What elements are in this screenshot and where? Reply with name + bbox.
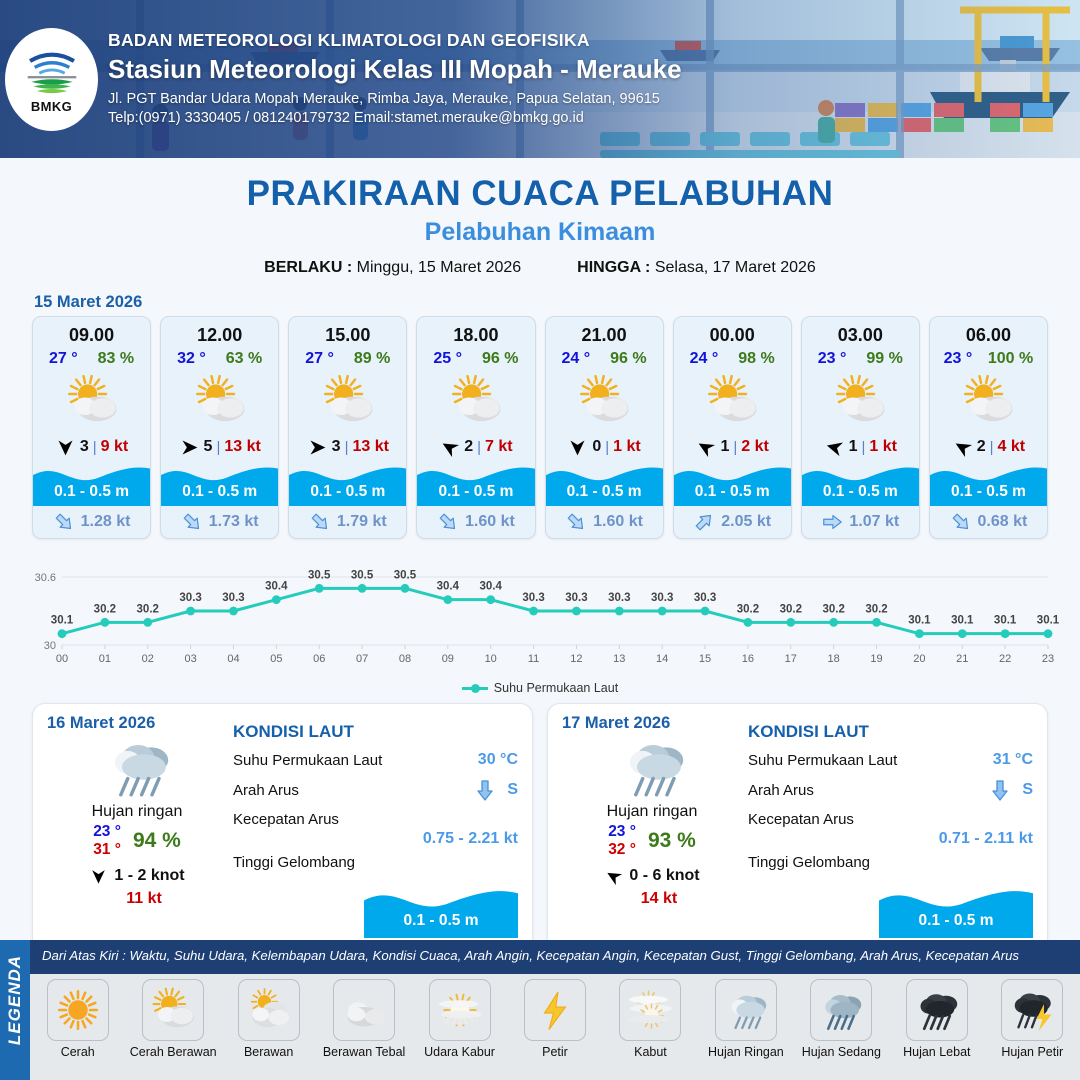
bmkg-logo-icon xyxy=(23,46,81,98)
card-time: 15.00 xyxy=(289,317,406,346)
card-weather-icon xyxy=(930,370,1047,432)
legend-item-label: Hujan Lebat xyxy=(903,1045,970,1059)
panel-condition: Hujan ringan xyxy=(562,803,742,821)
panel-sst-value: 31 °C xyxy=(993,751,1033,769)
card-wind-row: 2 | 4 kt xyxy=(930,432,1047,462)
svg-text:30.5: 30.5 xyxy=(351,569,374,581)
panel-sst-value: 30 °C xyxy=(478,751,518,769)
svg-text:30.4: 30.4 xyxy=(480,581,503,593)
card-temp-humidity: 23 ° 99 % xyxy=(802,346,919,368)
cerah-berawan-icon xyxy=(704,373,760,429)
legend-item: Udara Kabur xyxy=(412,974,507,1080)
card-separator: | xyxy=(862,439,866,456)
agency-name: BADAN METEOROLOGI KLIMATOLOGI DAN GEOFIS… xyxy=(108,30,682,51)
svg-text:03: 03 xyxy=(184,653,196,665)
bmkg-logo: BMKG xyxy=(5,28,98,131)
card-temp-humidity: 24 ° 96 % xyxy=(546,346,663,368)
forecast-card: 12.00 32 ° 63 % 5 | 13 kt 0.1 - 0.5 m xyxy=(160,316,279,539)
panel-temps: 23 ° 31 ° 94 % xyxy=(47,823,227,859)
card-wave: 0.1 - 0.5 m xyxy=(417,460,534,506)
card-current-speed: 1.07 kt xyxy=(849,513,899,531)
panel-current-dir-group: S xyxy=(988,778,1033,802)
card-wind-speed: 2 xyxy=(977,438,986,456)
card-wind-row: 3 | 13 kt xyxy=(289,432,406,462)
svg-text:05: 05 xyxy=(270,653,282,665)
card-current-row: 2.05 kt xyxy=(674,506,791,538)
forecast-card: 15.00 27 ° 89 % 3 | 13 kt 0.1 - 0.5 m xyxy=(288,316,407,539)
card-wave-height: 0.1 - 0.5 m xyxy=(674,483,791,501)
legenda-title: LEGENDA xyxy=(5,944,25,1056)
card-temperature: 24 ° xyxy=(562,350,591,368)
card-gust: 9 kt xyxy=(101,438,129,456)
panel-current-speed-label: Kecepatan Arus xyxy=(748,811,1033,828)
panel-wave-box: 0.1 - 0.5 m xyxy=(879,882,1033,938)
card-separator: | xyxy=(345,439,349,456)
card-weather-icon xyxy=(674,370,791,432)
card-humidity: 83 % xyxy=(98,350,134,368)
card-weather-icon xyxy=(289,370,406,432)
card-gust: 7 kt xyxy=(485,438,513,456)
card-wind-row: 0 | 1 kt xyxy=(546,432,663,462)
cerah-berawan-icon xyxy=(448,373,504,429)
legend-icon-box xyxy=(333,979,395,1041)
card-separator: | xyxy=(990,439,994,456)
panel-wave-label: Tinggi Gelombang xyxy=(233,854,518,871)
card-temperature: 27 ° xyxy=(305,350,334,368)
legenda-note: Dari Atas Kiri : Waktu, Suhu Udara, Kele… xyxy=(42,948,1019,963)
legend-item: Kabut xyxy=(603,974,698,1080)
card-wave: 0.1 - 0.5 m xyxy=(802,460,919,506)
card-humidity: 98 % xyxy=(738,350,774,368)
card-weather-icon xyxy=(417,370,534,432)
panel-current-speed-block: Kecepatan Arus 0.71 - 2.11 kt xyxy=(748,811,1033,848)
legend-item-label: Hujan Petir xyxy=(1001,1045,1063,1059)
card-current-row: 1.60 kt xyxy=(546,506,663,538)
svg-text:23: 23 xyxy=(1042,653,1054,665)
card-wave: 0.1 - 0.5 m xyxy=(289,460,406,506)
cerah-berawan-icon xyxy=(576,373,632,429)
legend-item-label: Hujan Ringan xyxy=(708,1045,784,1059)
svg-text:30.3: 30.3 xyxy=(222,592,244,604)
card-current-row: 1.28 kt xyxy=(33,506,150,538)
card-temp-humidity: 32 ° 63 % xyxy=(161,346,278,368)
svg-text:30.2: 30.2 xyxy=(822,603,844,615)
card-temp-humidity: 24 ° 98 % xyxy=(674,346,791,368)
svg-text:30.5: 30.5 xyxy=(394,569,417,581)
card-time: 18.00 xyxy=(417,317,534,346)
svg-text:11: 11 xyxy=(528,653,539,665)
card-wave-height: 0.1 - 0.5 m xyxy=(802,483,919,501)
legend-item: Hujan Ringan xyxy=(698,974,793,1080)
card-temperature: 24 ° xyxy=(690,350,719,368)
cerah-berawan-icon xyxy=(149,986,197,1034)
panel-sea-title: KONDISI LAUT xyxy=(748,722,1033,742)
cerah-berawan-icon xyxy=(64,373,120,429)
legend-item: Berawan Tebal xyxy=(316,974,411,1080)
wind-direction-icon xyxy=(307,437,328,458)
panel-temp-max: 32 ° xyxy=(608,841,636,859)
svg-text:07: 07 xyxy=(356,653,368,665)
card-current-speed: 1.60 kt xyxy=(593,513,643,531)
current-direction-icon xyxy=(988,778,1012,802)
bmkg-logo-text: BMKG xyxy=(31,99,72,114)
panel-current-dir-label: Arah Arus xyxy=(233,782,299,799)
card-humidity: 99 % xyxy=(866,350,902,368)
chart-legend-label: Suhu Permukaan Laut xyxy=(494,681,618,695)
svg-text:30.2: 30.2 xyxy=(137,603,159,615)
current-direction-icon xyxy=(176,506,207,537)
svg-text:30.3: 30.3 xyxy=(179,592,201,604)
card-current-speed: 1.28 kt xyxy=(81,513,131,531)
card-time: 00.00 xyxy=(674,317,791,346)
panel-temp-min: 23 ° xyxy=(93,823,121,841)
svg-text:30.3: 30.3 xyxy=(522,592,544,604)
legend-icon-box xyxy=(715,979,777,1041)
legend-item-label: Kabut xyxy=(634,1045,667,1059)
svg-text:22: 22 xyxy=(999,653,1011,665)
card-humidity: 63 % xyxy=(226,350,262,368)
panel-left: 16 Maret 2026 Hujan ringan 23 ° 31 ° 94 … xyxy=(47,714,227,940)
card-wave-height: 0.1 - 0.5 m xyxy=(417,483,534,501)
card-current-row: 1.73 kt xyxy=(161,506,278,538)
cerah-berawan-icon xyxy=(960,373,1016,429)
udara-kabur-icon xyxy=(436,986,484,1034)
panel-wave-label: Tinggi Gelombang xyxy=(748,854,1033,871)
card-wind-row: 1 | 1 kt xyxy=(802,432,919,462)
panel-wave-value: 0.1 - 0.5 m xyxy=(364,912,518,930)
legend-item: Cerah Berawan xyxy=(125,974,220,1080)
wind-direction-icon xyxy=(89,867,108,886)
card-wave-height: 0.1 - 0.5 m xyxy=(161,483,278,501)
card-wave: 0.1 - 0.5 m xyxy=(546,460,663,506)
cerah-icon xyxy=(54,986,102,1034)
panel-wave-box: 0.1 - 0.5 m xyxy=(364,882,518,938)
current-direction-icon xyxy=(48,506,79,537)
wind-direction-icon xyxy=(567,437,588,458)
svg-text:01: 01 xyxy=(99,653,111,665)
panel-sst-row: Suhu Permukaan Laut 30 °C xyxy=(233,751,518,769)
card-current-speed: 1.79 kt xyxy=(337,513,387,531)
panel-current-speed-label: Kecepatan Arus xyxy=(233,811,518,828)
wind-direction-icon xyxy=(179,437,200,458)
legenda-section: LEGENDA Dari Atas Kiri : Waktu, Suhu Uda… xyxy=(0,940,1080,1080)
card-wave-height: 0.1 - 0.5 m xyxy=(289,483,406,501)
card-time: 12.00 xyxy=(161,317,278,346)
card-wind-speed: 5 xyxy=(204,438,213,456)
card-wave: 0.1 - 0.5 m xyxy=(674,460,791,506)
card-wind-row: 2 | 7 kt xyxy=(417,432,534,462)
legend-icon-box xyxy=(142,979,204,1041)
station-address: Jl. PGT Bandar Udara Mopah Merauke, Rimb… xyxy=(108,91,682,107)
card-current-speed: 1.60 kt xyxy=(465,513,515,531)
card-current-speed: 1.73 kt xyxy=(209,513,259,531)
panel-sst-label: Suhu Permukaan Laut xyxy=(233,752,382,769)
card-humidity: 100 % xyxy=(988,350,1033,368)
current-direction-icon xyxy=(945,506,976,537)
svg-text:09: 09 xyxy=(442,653,454,665)
legend-item-label: Hujan Sedang xyxy=(802,1045,881,1059)
forecast-card: 06.00 23 ° 100 % 2 | 4 kt 0.1 - 0.5 m xyxy=(929,316,1048,539)
panel-gust: 14 kt xyxy=(562,890,742,908)
panel-condition: Hujan ringan xyxy=(47,803,227,821)
svg-text:19: 19 xyxy=(870,653,882,665)
svg-text:30.6: 30.6 xyxy=(35,572,56,584)
wind-direction-icon xyxy=(601,863,627,889)
panel-temp-col: 23 ° 31 ° xyxy=(93,823,121,859)
current-direction-icon xyxy=(304,506,335,537)
panel-humidity: 93 % xyxy=(648,829,696,853)
legenda-items: Cerah Cerah Berawan Berawan xyxy=(30,974,1080,1080)
panel-current-dir-value: S xyxy=(507,781,518,799)
berawan-tebal-icon xyxy=(340,986,388,1034)
berawan-icon xyxy=(245,986,293,1034)
panel-current-speed-value: 0.71 - 2.11 kt xyxy=(748,830,1033,848)
card-humidity: 89 % xyxy=(354,350,390,368)
panel-wind: 0 - 6 knot xyxy=(629,867,699,885)
panel-sst-label: Suhu Permukaan Laut xyxy=(748,752,897,769)
svg-text:30.1: 30.1 xyxy=(51,615,74,627)
header-text-block: BADAN METEOROLOGI KLIMATOLOGI DAN GEOFIS… xyxy=(108,30,682,126)
svg-text:30.1: 30.1 xyxy=(994,615,1017,627)
panel-humidity: 94 % xyxy=(133,829,181,853)
svg-text:30.2: 30.2 xyxy=(780,603,802,615)
card-wind-row: 5 | 13 kt xyxy=(161,432,278,462)
panel-temp-col: 23 ° 32 ° xyxy=(608,823,636,859)
card-temperature: 27 ° xyxy=(49,350,78,368)
panel-current-dir-value: S xyxy=(1022,781,1033,799)
svg-text:30.5: 30.5 xyxy=(308,569,331,581)
card-humidity: 96 % xyxy=(610,350,646,368)
hourly-forecast-cards: 09.00 27 ° 83 % 3 | 9 kt 0.1 - 0.5 m xyxy=(0,316,1080,539)
current-direction-icon xyxy=(473,778,497,802)
svg-text:17: 17 xyxy=(785,653,797,665)
wind-direction-icon xyxy=(435,433,464,462)
legend-item: Berawan xyxy=(221,974,316,1080)
card-wind-speed: 2 xyxy=(464,438,473,456)
svg-text:30.1: 30.1 xyxy=(1037,615,1060,627)
hujan-petir-icon xyxy=(1008,986,1056,1034)
wind-direction-icon xyxy=(821,434,847,460)
cerah-berawan-icon xyxy=(320,373,376,429)
page-title: PRAKIRAAN CUACA PELABUHAN xyxy=(0,174,1080,214)
card-separator: | xyxy=(477,439,481,456)
svg-text:18: 18 xyxy=(828,653,840,665)
kabut-icon xyxy=(626,986,674,1034)
card-temp-humidity: 27 ° 83 % xyxy=(33,346,150,368)
svg-text:30.4: 30.4 xyxy=(437,581,460,593)
panel-weather-icon xyxy=(562,731,742,803)
svg-text:21: 21 xyxy=(956,653,968,665)
legend-icon-box xyxy=(810,979,872,1041)
legend-icon-box xyxy=(1001,979,1063,1041)
svg-text:13: 13 xyxy=(613,653,625,665)
forecast-card: 09.00 27 ° 83 % 3 | 9 kt 0.1 - 0.5 m xyxy=(32,316,151,539)
legend-item-label: Cerah xyxy=(61,1045,95,1059)
hujan-sedang-icon xyxy=(817,986,865,1034)
card-temperature: 25 ° xyxy=(433,350,462,368)
legend-item-label: Berawan xyxy=(244,1045,293,1059)
daily-forecast-panel: 17 Maret 2026 Hujan ringan 23 ° 32 ° 93 … xyxy=(547,703,1048,953)
legend-item-label: Berawan Tebal xyxy=(323,1045,405,1059)
wind-direction-icon xyxy=(692,433,721,462)
card-temperature: 23 ° xyxy=(818,350,847,368)
svg-text:30.2: 30.2 xyxy=(737,603,759,615)
page-subtitle: Pelabuhan Kimaam xyxy=(0,218,1080,247)
legend-item-label: Petir xyxy=(542,1045,568,1059)
page-header: BMKG BADAN METEOROLOGI KLIMATOLOGI DAN G… xyxy=(0,0,1080,158)
legend-icon-box xyxy=(619,979,681,1041)
card-temp-humidity: 23 ° 100 % xyxy=(930,346,1047,368)
card-wave: 0.1 - 0.5 m xyxy=(161,460,278,506)
card-gust: 13 kt xyxy=(224,438,260,456)
card-humidity: 96 % xyxy=(482,350,518,368)
hujan-ringan-icon xyxy=(100,730,174,804)
svg-text:10: 10 xyxy=(485,653,497,665)
card-wave-height: 0.1 - 0.5 m xyxy=(33,483,150,501)
svg-text:16: 16 xyxy=(742,653,754,665)
panel-current-speed-value: 0.75 - 2.21 kt xyxy=(233,830,518,848)
daily-forecast-panels: 16 Maret 2026 Hujan ringan 23 ° 31 ° 94 … xyxy=(0,695,1080,953)
forecast-card: 00.00 24 ° 98 % 1 | 2 kt 0.1 - 0.5 m xyxy=(673,316,792,539)
current-direction-icon xyxy=(561,506,592,537)
panel-wind-row: 1 - 2 knot xyxy=(47,867,227,886)
forecast-card: 18.00 25 ° 96 % 2 | 7 kt 0.1 - 0.5 m xyxy=(416,316,535,539)
panel-wind-row: 0 - 6 knot xyxy=(562,867,742,886)
card-temperature: 23 ° xyxy=(944,350,973,368)
svg-text:30: 30 xyxy=(44,640,56,652)
card-wind-speed: 3 xyxy=(332,438,341,456)
svg-text:02: 02 xyxy=(142,653,154,665)
panel-current-dir-label: Arah Arus xyxy=(748,782,814,799)
card-wind-speed: 1 xyxy=(720,438,729,456)
card-current-row: 1.79 kt xyxy=(289,506,406,538)
forecast-card: 03.00 23 ° 99 % 1 | 1 kt 0.1 - 0.5 m xyxy=(801,316,920,539)
validity-row: BERLAKU : Minggu, 15 Maret 2026 HINGGA :… xyxy=(0,259,1080,277)
panel-right: KONDISI LAUT Suhu Permukaan Laut 31 °C A… xyxy=(742,714,1033,940)
hingga-group: HINGGA : Selasa, 17 Maret 2026 xyxy=(577,259,816,277)
panel-current-dir-row: Arah Arus S xyxy=(748,778,1033,802)
panel-sst-row: Suhu Permukaan Laut 31 °C xyxy=(748,751,1033,769)
card-weather-icon xyxy=(33,370,150,432)
card-gust: 2 kt xyxy=(741,438,769,456)
panel-current-dir-row: Arah Arus S xyxy=(233,778,518,802)
card-gust: 1 kt xyxy=(613,438,641,456)
panel-wave-value: 0.1 - 0.5 m xyxy=(879,912,1033,930)
svg-text:30.2: 30.2 xyxy=(865,603,887,615)
wind-direction-icon xyxy=(55,437,76,458)
legenda-note-bar: Dari Atas Kiri : Waktu, Suhu Udara, Kele… xyxy=(30,940,1080,974)
svg-text:12: 12 xyxy=(570,653,582,665)
card-separator: | xyxy=(605,439,609,456)
cerah-berawan-icon xyxy=(832,373,888,429)
legend-icon-box xyxy=(524,979,586,1041)
card-weather-icon xyxy=(546,370,663,432)
card-current-row: 1.60 kt xyxy=(417,506,534,538)
panel-current-speed-block: Kecepatan Arus 0.75 - 2.21 kt xyxy=(233,811,518,848)
card-temperature: 32 ° xyxy=(177,350,206,368)
svg-text:30.3: 30.3 xyxy=(565,592,587,604)
card-current-row: 1.07 kt xyxy=(802,506,919,538)
station-name: Stasiun Meteorologi Kelas III Mopah - Me… xyxy=(108,54,682,85)
svg-text:30.2: 30.2 xyxy=(94,603,116,615)
legend-item: Hujan Sedang xyxy=(794,974,889,1080)
card-separator: | xyxy=(216,439,220,456)
current-direction-icon xyxy=(432,506,463,537)
card-temp-humidity: 27 ° 89 % xyxy=(289,346,406,368)
sst-chart: 30.6300001020304050607080910111213141516… xyxy=(18,551,1062,679)
petir-icon xyxy=(531,986,579,1034)
legend-item-label: Cerah Berawan xyxy=(130,1045,217,1059)
card-gust: 4 kt xyxy=(998,438,1026,456)
card-time: 21.00 xyxy=(546,317,663,346)
svg-text:04: 04 xyxy=(227,653,239,665)
card-current-speed: 2.05 kt xyxy=(721,513,771,531)
card-wind-speed: 1 xyxy=(849,438,858,456)
current-direction-icon xyxy=(821,511,843,533)
legend-icon-box xyxy=(906,979,968,1041)
svg-text:15: 15 xyxy=(699,653,711,665)
panel-wind: 1 - 2 knot xyxy=(114,867,184,885)
panel-right: KONDISI LAUT Suhu Permukaan Laut 30 °C A… xyxy=(227,714,518,940)
berlaku-label: BERLAKU : xyxy=(264,259,352,276)
legend-item: Hujan Petir xyxy=(985,974,1080,1080)
card-wave: 0.1 - 0.5 m xyxy=(33,460,150,506)
card-wind-row: 1 | 2 kt xyxy=(674,432,791,462)
card-temp-humidity: 25 ° 96 % xyxy=(417,346,534,368)
panel-temp-min: 23 ° xyxy=(608,823,636,841)
legenda-sidebar: LEGENDA xyxy=(0,940,30,1080)
card-wind-speed: 0 xyxy=(592,438,601,456)
svg-text:14: 14 xyxy=(656,653,668,665)
svg-text:30.1: 30.1 xyxy=(951,615,974,627)
wind-direction-icon xyxy=(948,433,977,462)
panel-weather-icon xyxy=(47,731,227,803)
card-gust: 13 kt xyxy=(352,438,388,456)
svg-text:06: 06 xyxy=(313,653,325,665)
legend-icon-box xyxy=(238,979,300,1041)
hujan-ringan-icon xyxy=(615,730,689,804)
card-wind-speed: 3 xyxy=(80,438,89,456)
panel-left: 17 Maret 2026 Hujan ringan 23 ° 32 ° 93 … xyxy=(562,714,742,940)
svg-text:30.1: 30.1 xyxy=(908,615,931,627)
legend-item-label: Udara Kabur xyxy=(424,1045,495,1059)
svg-text:30.3: 30.3 xyxy=(694,592,716,604)
card-weather-icon xyxy=(161,370,278,432)
day1-date: 15 Maret 2026 xyxy=(34,293,1080,312)
chart-legend: Suhu Permukaan Laut xyxy=(0,681,1080,695)
berlaku-value: Minggu, 15 Maret 2026 xyxy=(357,259,522,276)
panel-temp-max: 31 ° xyxy=(93,841,121,859)
card-time: 03.00 xyxy=(802,317,919,346)
panel-temps: 23 ° 32 ° 93 % xyxy=(562,823,742,859)
forecast-card: 21.00 24 ° 96 % 0 | 1 kt 0.1 - 0.5 m xyxy=(545,316,664,539)
hujan-ringan-icon xyxy=(722,986,770,1034)
card-separator: | xyxy=(93,439,97,456)
svg-text:08: 08 xyxy=(399,653,411,665)
svg-text:30.3: 30.3 xyxy=(651,592,673,604)
card-wave-height: 0.1 - 0.5 m xyxy=(930,483,1047,501)
station-contact: Telp:(0971) 3330405 / 081240179732 Email… xyxy=(108,110,682,126)
svg-text:30.3: 30.3 xyxy=(608,592,630,604)
panel-current-dir-group: S xyxy=(473,778,518,802)
card-time: 09.00 xyxy=(33,317,150,346)
legend-icon-box xyxy=(429,979,491,1041)
legend-icon-box xyxy=(47,979,109,1041)
sst-chart-svg: 30.6300001020304050607080910111213141516… xyxy=(18,551,1062,679)
card-current-row: 0.68 kt xyxy=(930,506,1047,538)
card-wave-height: 0.1 - 0.5 m xyxy=(546,483,663,501)
card-separator: | xyxy=(733,439,737,456)
